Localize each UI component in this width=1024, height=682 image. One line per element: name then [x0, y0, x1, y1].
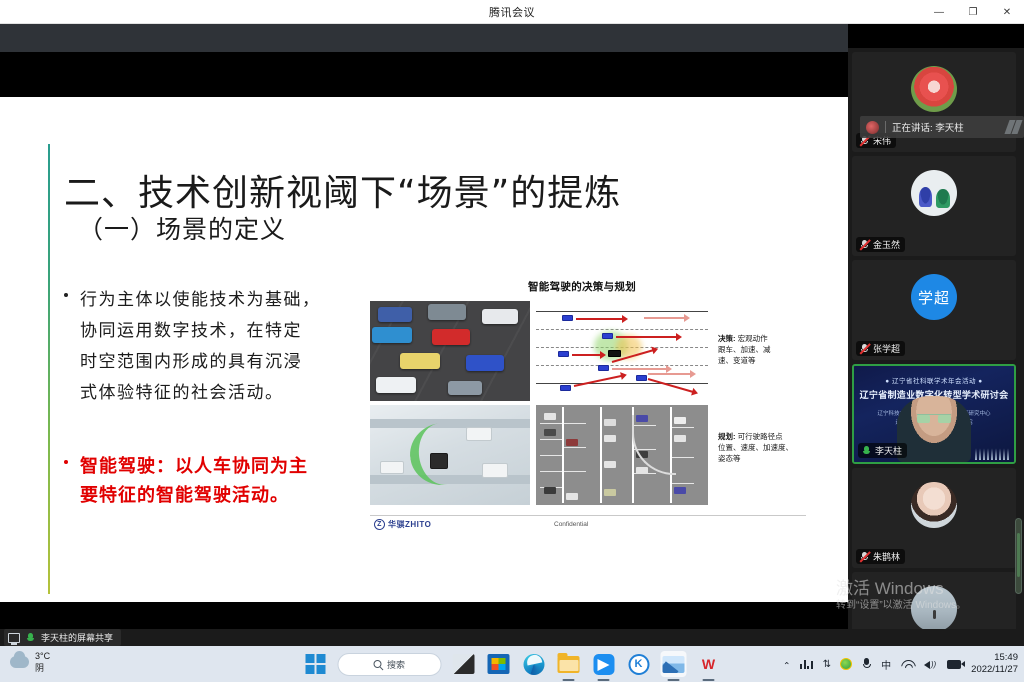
- participant-tile-5[interactable]: 朱鹊林: [852, 468, 1016, 568]
- k-icon: K: [628, 654, 649, 675]
- edge-icon: [523, 654, 544, 675]
- screen-share-indicator[interactable]: 李天柱的屏幕共享: [4, 629, 121, 646]
- taskbar-clock[interactable]: 15:49 2022/11/27: [971, 652, 1018, 676]
- volume-icon[interactable]: )): [924, 659, 937, 670]
- bullet-dot-icon: [64, 460, 68, 464]
- participant-name-badge: 金玉然: [856, 237, 905, 252]
- diagram-logo: Z 华骐ZHITO: [374, 519, 431, 530]
- avatar: [911, 170, 957, 216]
- participant-tile-4[interactable]: ● 辽宁省社科联学术年会活动 ● 辽宁省制造业数字化转型学术研讨会 辽宁科技大学…: [852, 364, 1016, 464]
- stage-letterbox: [0, 52, 848, 97]
- slide-subtitle: （一）场景的定义: [78, 210, 286, 246]
- task-view-icon: [453, 654, 475, 674]
- network-transfer-icon[interactable]: ⇅: [823, 659, 830, 670]
- diagram-decision-schematic: [536, 301, 708, 401]
- active-speaker-text: 正在讲话: 李天柱: [892, 120, 964, 134]
- mic-muted-icon: [859, 551, 870, 562]
- avatar: [911, 482, 957, 528]
- weather-temperature: 3°C: [35, 650, 50, 662]
- participant-name: 金玉然: [873, 238, 900, 251]
- meeting-body: 二、技术创新视阈下“场景”的提炼 （一）场景的定义 行为主体以使能技术为基础， …: [0, 24, 1024, 629]
- diagram-parking-planning: [536, 405, 708, 505]
- kingsoft-button[interactable]: K: [626, 651, 652, 677]
- participant-name: 张学超: [873, 342, 900, 355]
- microphone-icon[interactable]: [862, 658, 871, 670]
- taskbar-weather-widget[interactable]: 3°C 阴: [10, 650, 50, 674]
- participant-name: 朱鹊林: [873, 550, 900, 563]
- windows-taskbar: 3°C 阴 搜索: [0, 646, 1024, 682]
- photo-traffic-sensing: [370, 301, 530, 401]
- folder-icon: [558, 656, 580, 673]
- search-icon: [374, 660, 382, 668]
- participant-name-badge: 李天柱: [858, 443, 907, 458]
- mic-muted-icon: [859, 343, 870, 354]
- security-shield-icon[interactable]: [840, 658, 852, 670]
- speaker-figure: [897, 396, 971, 462]
- shared-slide: 二、技术创新视阈下“场景”的提炼 （一）场景的定义 行为主体以使能技术为基础， …: [0, 97, 848, 602]
- participant-tile-3[interactable]: 学超 张学超: [852, 260, 1016, 360]
- active-speaker-banner: 正在讲话: 李天柱: [860, 116, 1024, 138]
- photos-app-button[interactable]: [661, 651, 687, 677]
- audio-level-icon: [1007, 120, 1020, 134]
- diagram-confidential-label: Confidential: [554, 521, 588, 528]
- microsoft-store-button[interactable]: [486, 651, 512, 677]
- participant-rail-scrollbar[interactable]: [1015, 518, 1022, 594]
- search-input[interactable]: 搜索: [338, 653, 442, 676]
- slide-bullet-2-text: 智能驾驶：以人车协同为主 要特征的智能驾驶活动。: [80, 452, 364, 510]
- diagram-note-decision: 决策: 宏观动作 跟车、加速、减 速、变道等: [718, 333, 804, 366]
- search-placeholder: 搜索: [387, 658, 405, 671]
- window-title-bar: 腾讯会议 — ❐ ✕: [0, 0, 1024, 24]
- app-root: 腾讯会议 — ❐ ✕ 二、技术创新视阈下“场景”的提炼 （一）场景的定义 行为主…: [0, 0, 1024, 682]
- start-button[interactable]: [303, 651, 329, 677]
- window-title: 腾讯会议: [489, 4, 535, 20]
- photos-icon: [663, 656, 685, 673]
- task-view-button[interactable]: [451, 651, 477, 677]
- wifi-icon[interactable]: [901, 659, 914, 669]
- system-tray: ⌄ ⇅ 中 )) 15:49 2022/11/27: [783, 646, 1018, 682]
- microsoft-edge-button[interactable]: [521, 651, 547, 677]
- slide-bullet-2: 智能驾驶：以人车协同为主 要特征的智能驾驶活动。: [64, 452, 364, 510]
- mic-on-icon: [861, 445, 872, 456]
- clock-time: 15:49: [971, 652, 1018, 664]
- diagram-title: 智能驾驶的决策与规划: [528, 279, 636, 294]
- minimize-button[interactable]: —: [922, 0, 956, 24]
- video-headline: ● 辽宁省社科联学术年会活动 ●: [854, 375, 1014, 385]
- screen-share-label: 李天柱的屏幕共享: [41, 631, 113, 644]
- windows-logo-icon: [306, 654, 326, 674]
- slide-bullet-1-text: 行为主体以使能技术为基础， 协同运用数字技术，在特定 时空范围内形成的具有沉浸 …: [80, 285, 364, 409]
- performance-graph-icon[interactable]: [800, 659, 813, 669]
- clock-date: 2022/11/27: [971, 664, 1018, 676]
- store-icon: [488, 654, 510, 674]
- diagram-note-planning-label: 规划:: [718, 432, 736, 441]
- window-controls: — ❐ ✕: [922, 0, 1024, 24]
- slide-title: 二、技术创新视阈下“场景”的提炼: [64, 164, 621, 216]
- close-button[interactable]: ✕: [990, 0, 1024, 24]
- stage-top-bar: [0, 24, 848, 52]
- file-explorer-button[interactable]: [556, 651, 582, 677]
- slide-accent-line: [48, 144, 50, 594]
- participant-rail[interactable]: 宋伟 正在讲话: 李天柱 金玉然 学超: [848, 48, 1024, 653]
- diagram-divider: [370, 515, 806, 516]
- camera-icon[interactable]: [947, 660, 961, 669]
- wps-icon: W: [699, 654, 719, 674]
- participant-name: 李天柱: [875, 444, 902, 457]
- diagram-note-planning: 规划: 可行驶路径点 位置、速度、加速度、 姿态等: [718, 431, 804, 464]
- slide-bullet-1: 行为主体以使能技术为基础， 协同运用数字技术，在特定 时空范围内形成的具有沉浸 …: [64, 285, 364, 409]
- maximize-button[interactable]: ❐: [956, 0, 990, 24]
- mic-muted-icon: [859, 239, 870, 250]
- divider: [885, 121, 886, 133]
- company-logo-icon: Z: [374, 519, 385, 530]
- photo-lane-change: [370, 405, 530, 505]
- show-hidden-icons-icon[interactable]: ⌄: [783, 659, 791, 670]
- meeting-icon: [593, 654, 614, 675]
- participant-name-badge: 朱鹊林: [856, 549, 905, 564]
- mic-on-icon: [25, 632, 36, 643]
- audio-waveform-icon: [975, 442, 1011, 460]
- speaker-avatar: [866, 121, 879, 134]
- avatar: 学超: [911, 274, 957, 320]
- diagram-note-decision-label: 决策:: [718, 334, 736, 343]
- cloud-icon: [10, 656, 29, 668]
- weather-description: 阴: [35, 662, 50, 674]
- taskbar-apps: 搜索 K W: [303, 646, 722, 682]
- avatar: [911, 66, 957, 112]
- participant-name-badge: 张学超: [856, 341, 905, 356]
- bullet-dot-icon: [64, 293, 68, 297]
- scrollbar-thumb[interactable]: [1017, 533, 1020, 577]
- slide-diagram: 智能驾驶的决策与规划: [368, 279, 808, 529]
- diagram-logo-text: 华骐ZHITO: [388, 519, 431, 530]
- tencent-meeting-button[interactable]: [591, 651, 617, 677]
- avatar: [911, 586, 957, 632]
- ime-language-icon[interactable]: 中: [881, 657, 891, 672]
- screen-share-strip: 李天柱的屏幕共享: [0, 629, 1024, 646]
- participant-tile-2[interactable]: 金玉然: [852, 156, 1016, 256]
- glasses-icon: [917, 414, 951, 422]
- screen-share-stage[interactable]: 二、技术创新视阈下“场景”的提炼 （一）场景的定义 行为主体以使能技术为基础， …: [0, 24, 848, 629]
- monitor-icon: [8, 633, 20, 643]
- wps-office-button[interactable]: W: [696, 651, 722, 677]
